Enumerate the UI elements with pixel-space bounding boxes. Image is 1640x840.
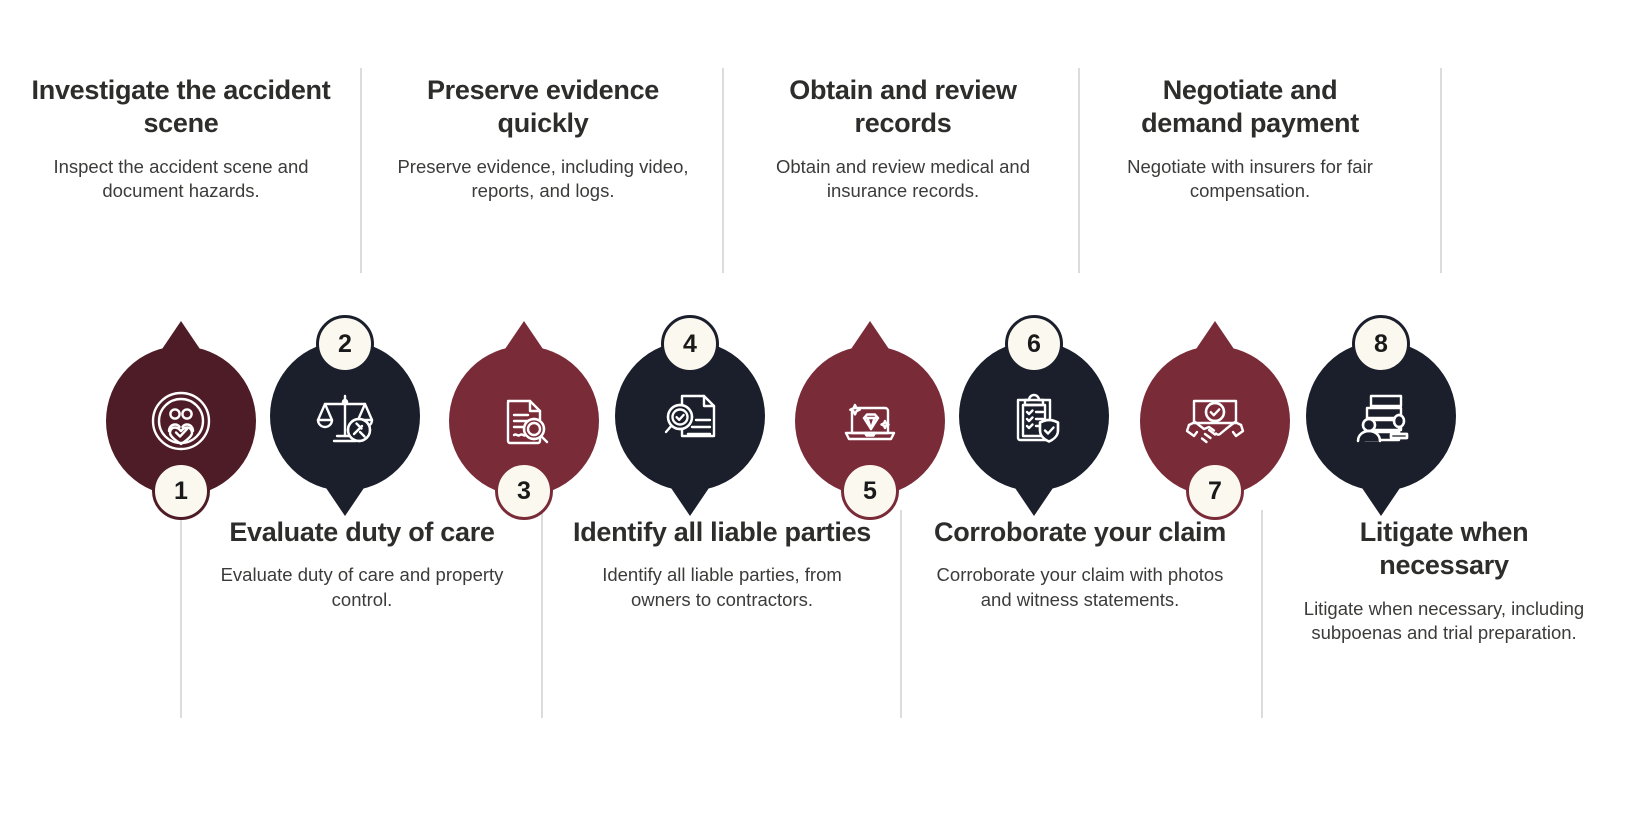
step-number-4: 4 (683, 330, 697, 359)
step-marker-1[interactable]: 1 (106, 310, 256, 496)
step-title-1: Investigate the accident scene (31, 74, 331, 141)
divider-bottom-4 (1261, 510, 1263, 718)
step-text-3: Preserve evidence quickly Preserve evide… (393, 74, 693, 204)
step-text-5: Obtain and review records Obtain and rev… (753, 74, 1053, 204)
step-marker-5[interactable]: 5 (795, 310, 945, 496)
step-desc-1: Inspect the accident scene and document … (31, 155, 331, 204)
step-badge-7: 7 (1186, 462, 1244, 520)
step-number-5: 5 (863, 477, 877, 506)
step-marker-4[interactable]: 4 (615, 341, 765, 527)
step-text-7: Negotiate and demand payment Negotiate w… (1115, 74, 1385, 204)
step-text-6: Corroborate your claim Corroborate your … (930, 516, 1230, 612)
step-number-3: 3 (517, 477, 531, 506)
step-number-8: 8 (1374, 330, 1388, 359)
step-marker-6[interactable]: 6 (959, 341, 1109, 527)
step-number-6: 6 (1027, 330, 1041, 359)
step-title-5: Obtain and review records (753, 74, 1053, 141)
step-marker-8[interactable]: 8 (1306, 341, 1456, 527)
step-badge-3: 3 (495, 462, 553, 520)
step-badge-5: 5 (841, 462, 899, 520)
step-title-7: Negotiate and demand payment (1115, 74, 1385, 141)
step-badge-4: 4 (661, 315, 719, 373)
step-badge-1: 1 (152, 462, 210, 520)
divider-top-2 (722, 68, 724, 273)
step-text-4: Identify all liable parties Identify all… (572, 516, 872, 612)
step-desc-5: Obtain and review medical and insurance … (753, 155, 1053, 204)
step-badge-8: 8 (1352, 315, 1410, 373)
step-marker-3[interactable]: 3 (449, 310, 599, 496)
infographic-canvas: Investigate the accident scene Inspect t… (0, 0, 1640, 840)
divider-top-1 (360, 68, 362, 273)
divider-bottom-1 (180, 510, 182, 718)
step-desc-6: Corroborate your claim with photos and w… (930, 563, 1230, 612)
divider-top-3 (1078, 68, 1080, 273)
step-desc-4: Identify all liable parties, from owners… (572, 563, 872, 612)
step-badge-2: 2 (316, 315, 374, 373)
step-text-1: Investigate the accident scene Inspect t… (31, 74, 331, 204)
step-desc-3: Preserve evidence, including video, repo… (393, 155, 693, 204)
step-text-2: Evaluate duty of care Evaluate duty of c… (212, 516, 512, 612)
step-desc-7: Negotiate with insurers for fair compens… (1115, 155, 1385, 204)
step-title-3: Preserve evidence quickly (393, 74, 693, 141)
step-number-2: 2 (338, 330, 352, 359)
step-marker-2[interactable]: 2 (270, 341, 420, 527)
step-number-1: 1 (174, 477, 188, 506)
divider-bottom-3 (900, 510, 902, 718)
step-marker-7[interactable]: 7 (1140, 310, 1290, 496)
step-badge-6: 6 (1005, 315, 1063, 373)
divider-top-4 (1440, 68, 1442, 273)
divider-bottom-2 (541, 510, 543, 718)
step-number-7: 7 (1208, 477, 1222, 506)
step-desc-2: Evaluate duty of care and property contr… (212, 563, 512, 612)
step-desc-8: Litigate when necessary, including subpo… (1294, 597, 1594, 646)
step-text-8: Litigate when necessary Litigate when ne… (1294, 516, 1594, 646)
